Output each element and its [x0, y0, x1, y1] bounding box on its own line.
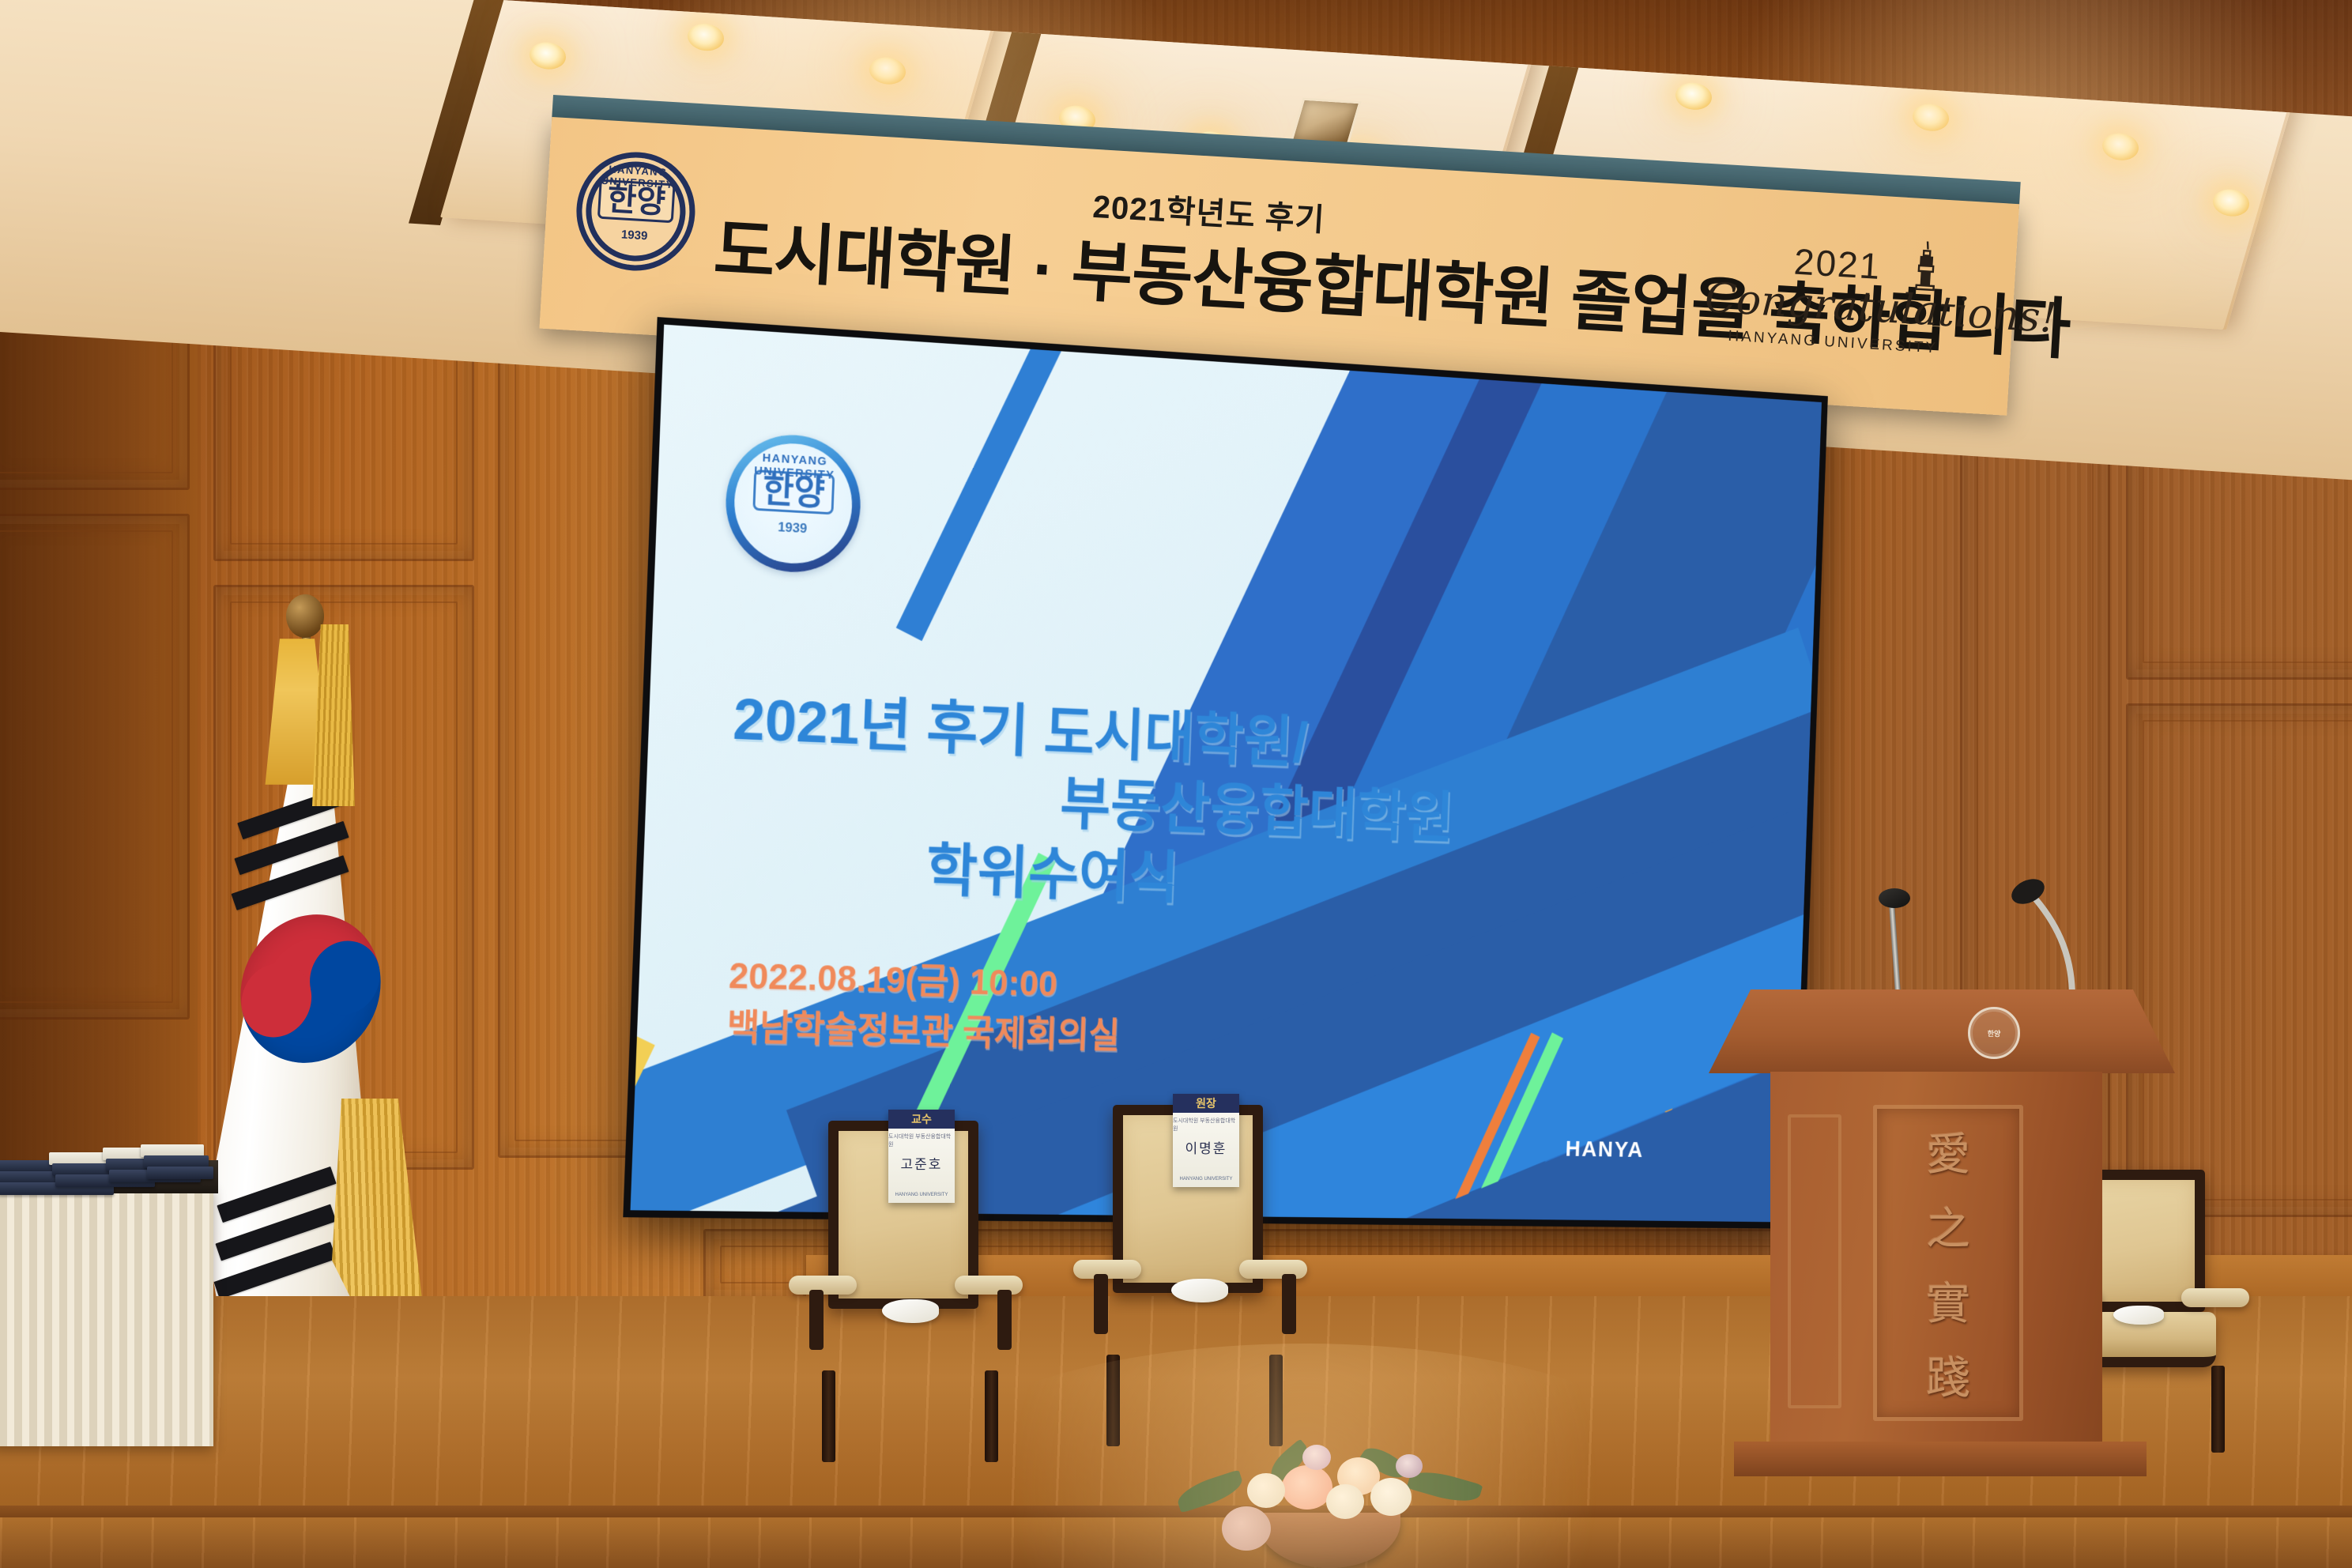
chair-arm-post [997, 1290, 1012, 1350]
motto-char: 實 [1926, 1268, 1970, 1332]
name-card-logo: HANYANG UNIVERSITY [895, 1193, 948, 1197]
leaf [1174, 1469, 1246, 1513]
name-card-name: 고준호 [901, 1153, 943, 1173]
wall-panel [2126, 703, 2352, 1217]
chair-leg [1269, 1355, 1283, 1446]
slide-footer-brand: HANYA [1565, 1136, 1644, 1163]
flower-bloom [1396, 1454, 1423, 1478]
slide-meta: 2022.08.19(금) 10:00 백남학술정보관 국제회의실 [726, 950, 1123, 1061]
lectern-podium: 한양 愛 之 實 踐 [1756, 989, 2128, 1479]
flower-bloom [1302, 1445, 1331, 1470]
projection-screen: HANYANG UNIVERSITY 한양 1939 2021년 후기 도시대학… [631, 325, 1822, 1223]
chair-leg [985, 1370, 998, 1462]
slide-datetime: 2022.08.19(금) 10:00 [728, 950, 1122, 1011]
podium-side-panel [1788, 1114, 1841, 1408]
hanyang-emblem-icon: HANYANG UNIVERSITY 한양 1939 [573, 149, 699, 274]
flower-bloom [1222, 1506, 1271, 1551]
slide-emblem-year: 1939 [778, 519, 807, 537]
motto-char: 之 [1926, 1193, 1970, 1257]
microphone-head-icon [1879, 888, 1910, 908]
slide-location: 백남학술정보관 국제회의실 [726, 1001, 1121, 1061]
projection-screen-frame: HANYANG UNIVERSITY 한양 1939 2021년 후기 도시대학… [623, 317, 1828, 1229]
slide-title: 2021년 후기 도시대학원/ 부동산융합대학원 학위수여식 [726, 683, 1457, 921]
slide-hanyang-emblem-icon: HANYANG UNIVERSITY 한양 1939 [723, 431, 863, 575]
chair-name-card: 원장 도시대학원 부동산융합대학원 이명훈 HANYANG UNIVERSITY [1173, 1094, 1239, 1187]
decorative-band [896, 325, 1094, 641]
chair-arm-post [1282, 1274, 1296, 1334]
motto-char: 踐 [1926, 1343, 1970, 1407]
name-card-name: 이명훈 [1185, 1137, 1227, 1157]
chair-arm [2181, 1288, 2249, 1307]
chair-leg [1106, 1355, 1120, 1446]
chair-leg [822, 1370, 835, 1462]
name-card-subtitle: 도시대학원 부동산융합대학원 [1173, 1117, 1239, 1133]
chair-handkerchief [882, 1299, 939, 1323]
podium-motto: 愛 之 實 踐 [1875, 1108, 2022, 1418]
emblem-year: 1939 [620, 228, 647, 243]
chair-arm [1239, 1260, 1307, 1279]
side-table-skirt [0, 1185, 213, 1446]
podium-hanyang-emblem-icon: 한양 [1968, 1007, 2020, 1059]
auditorium-stage-photo: HANYANG UNIVERSITY 한양 1939 2021학년도 후기 도시… [0, 0, 2352, 1568]
chair-leg [2211, 1366, 2225, 1453]
chair-handkerchief [1171, 1279, 1228, 1302]
chair-arm [955, 1276, 1023, 1295]
gooseneck-microphone-icon [1984, 871, 2086, 1005]
tower-icon [1911, 240, 1941, 300]
wall-panel [0, 514, 190, 1020]
name-card-header: 원장 [1173, 1094, 1239, 1113]
motto-char: 愛 [1926, 1119, 1970, 1183]
name-card-subtitle: 도시대학원 부동산융합대학원 [888, 1133, 955, 1148]
name-card-header: 교수 [888, 1110, 955, 1129]
podium-top [1709, 989, 2175, 1073]
diploma-folder [147, 1167, 213, 1179]
chair-arm-post [809, 1290, 824, 1350]
flower-bloom [1326, 1484, 1364, 1519]
flag-finial-icon [286, 594, 324, 638]
flower-bloom [1282, 1465, 1332, 1510]
flower-arrangement [1171, 1437, 1487, 1568]
flower-vase [1258, 1513, 1400, 1568]
flower-bloom [1370, 1478, 1412, 1516]
chair-name-card: 교수 도시대학원 부동산융합대학원 고준호 HANYANG UNIVERSITY [888, 1110, 955, 1203]
flower-bloom [1247, 1473, 1285, 1508]
chair-arm-post [1094, 1274, 1108, 1334]
name-card-logo: HANYANG UNIVERSITY [1180, 1177, 1233, 1182]
podium-base [1734, 1442, 2147, 1476]
